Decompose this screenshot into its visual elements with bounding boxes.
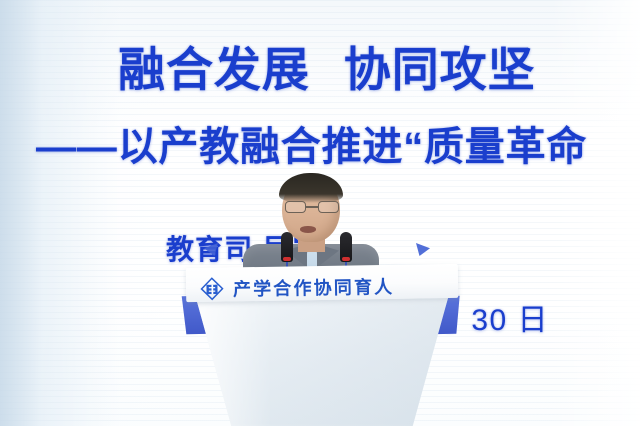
diamond-layers-logo-icon: [200, 277, 224, 301]
podium-body: [196, 298, 448, 426]
conference-stage-scene: 融合发展协同攻坚 ——以产教融合推进“质量革命 教育司 吴岩 月 30 日: [0, 0, 640, 426]
podium: 产学合作协同育人: [0, 0, 640, 426]
podium-branding: 产学合作协同育人: [200, 273, 450, 301]
podium-wordmark: 产学合作协同育人: [233, 273, 395, 302]
